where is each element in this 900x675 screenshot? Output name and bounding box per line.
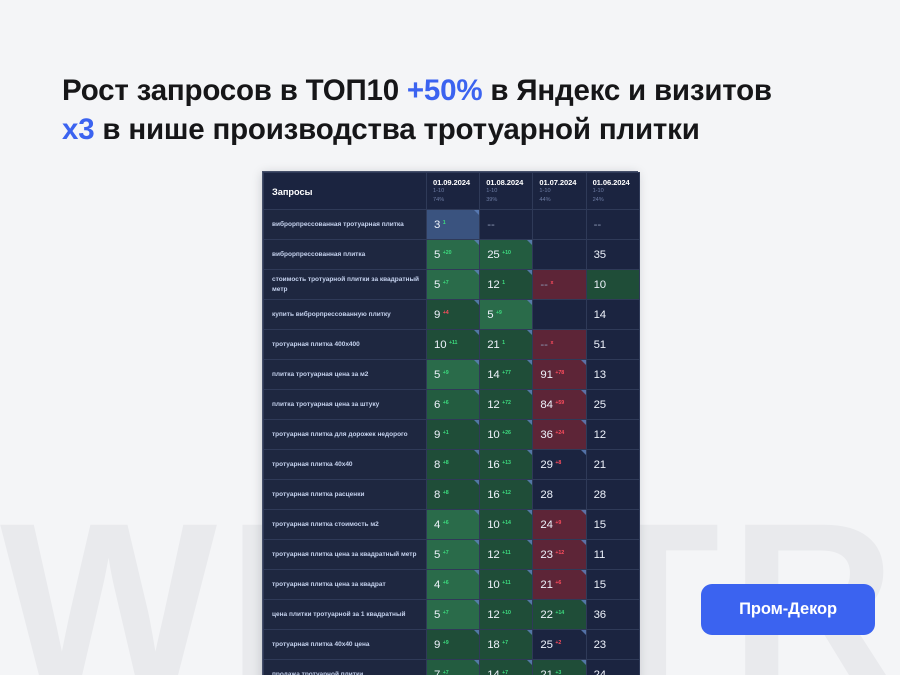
table-row: тротуарная плитка стоимость м24+610+1424…: [264, 510, 640, 540]
position-value: 10: [487, 519, 499, 531]
position-value: 16: [487, 459, 499, 471]
query-cell: тротуарная плитка 40x40 цена: [264, 630, 427, 660]
position-cell: 18+7: [480, 630, 533, 660]
position-cell: --x: [533, 330, 586, 360]
position-delta: +2: [555, 640, 561, 646]
position-cell: 25+2: [533, 630, 586, 660]
position-delta: +7: [502, 640, 508, 646]
position-value: --: [594, 219, 602, 231]
table-row: цена плитки тротуарной за 1 квадратный5+…: [264, 600, 640, 630]
position-value: 4: [434, 579, 440, 591]
position-delta: +7: [443, 610, 449, 616]
position-value: 12: [487, 399, 499, 411]
position-cell: 7+7: [427, 660, 480, 675]
position-value: 91: [540, 369, 552, 381]
position-cell: 4+6: [427, 570, 480, 600]
table-row: тротуарная плитка 400x40010+11211--x51: [264, 330, 640, 360]
position-cell: 36+24: [533, 420, 586, 450]
query-cell: продажа тротуарной плитки: [264, 660, 427, 675]
position-delta: +7: [443, 670, 449, 675]
position-cell: 51: [586, 330, 639, 360]
position-value: 36: [594, 609, 606, 621]
position-cell: 6+6: [427, 390, 480, 420]
position-cell: 25: [586, 390, 639, 420]
query-cell: виброрпрессованная тротуарная плитка: [264, 210, 427, 240]
table-header-row: Запросы 01.09.20241-1074%01.08.20241-103…: [264, 173, 640, 210]
position-cell: 13: [586, 360, 639, 390]
title-accent-percent: +50%: [407, 74, 482, 107]
position-value: 21: [594, 459, 606, 471]
position-cell: 25+10: [480, 240, 533, 270]
position-value: 13: [594, 369, 606, 381]
position-delta: +6: [443, 580, 449, 586]
header-percent-label: 74%: [433, 196, 475, 204]
position-value: 28: [540, 489, 552, 501]
position-value: 7: [434, 669, 440, 675]
title-accent-multiplier: x3: [62, 113, 94, 146]
position-value: 12: [487, 609, 499, 621]
position-value: 10: [487, 579, 499, 591]
rankings-table: Запросы 01.09.20241-1074%01.08.20241-103…: [263, 172, 640, 675]
position-cell: 5+9: [427, 360, 480, 390]
position-value: 21: [487, 339, 499, 351]
position-cell: 29+8: [533, 450, 586, 480]
position-cell: 23: [586, 630, 639, 660]
position-cell: 16+13: [480, 450, 533, 480]
table-body: виброрпрессованная тротуарная плитка31--…: [264, 210, 640, 675]
position-value: 25: [540, 639, 552, 651]
position-cell: 21: [586, 450, 639, 480]
position-value: --: [540, 279, 548, 291]
position-value: 9: [434, 639, 440, 651]
header-date-label: 01.09.2024: [433, 178, 475, 187]
position-delta: 1: [443, 220, 446, 226]
position-delta: +10: [502, 610, 511, 616]
position-cell: 24: [586, 660, 639, 675]
position-cell: 36: [586, 600, 639, 630]
position-value: 25: [594, 399, 606, 411]
table-row: тротуарная плитка расценки8+816+122828: [264, 480, 640, 510]
position-cell: 14: [586, 300, 639, 330]
position-delta: +11: [502, 580, 510, 586]
query-cell: тротуарная плитка 400x400: [264, 330, 427, 360]
position-cell: 8+8: [427, 480, 480, 510]
title-text-3: в нише производства тротуарной плитки: [94, 113, 699, 146]
query-cell: тротуарная плитка стоимость м2: [264, 510, 427, 540]
table-row: тротуарная плитка для дорожек недорого9+…: [264, 420, 640, 450]
position-value: --: [540, 339, 548, 351]
table-row: тротуарная плитка 40x40 цена9+918+725+22…: [264, 630, 640, 660]
position-cell: [533, 300, 586, 330]
position-value: 5: [487, 309, 493, 321]
header-percent-label: 44%: [539, 196, 581, 204]
position-value: 9: [434, 309, 440, 321]
position-delta: +10: [502, 250, 511, 256]
position-value: 5: [434, 249, 440, 261]
header-date-label: 01.06.2024: [593, 178, 635, 187]
table-row: купить виброрпрессованную плитку9+45+914: [264, 300, 640, 330]
position-cell: 22+14: [533, 600, 586, 630]
position-delta: +1: [443, 430, 449, 436]
position-cell: --: [480, 210, 533, 240]
position-delta: +9: [443, 640, 449, 646]
position-value: 10: [434, 339, 446, 351]
position-delta: +7: [502, 670, 508, 675]
table-row: плитка тротуарная цена за м25+914+7791+7…: [264, 360, 640, 390]
position-cell: 4+6: [427, 510, 480, 540]
header-date-cell: 01.09.20241-1074%: [427, 173, 480, 210]
position-cell: 23+12: [533, 540, 586, 570]
position-value: 14: [594, 309, 606, 321]
header-date-label: 01.08.2024: [486, 178, 528, 187]
position-delta: +14: [502, 520, 511, 526]
position-delta: +6: [555, 580, 561, 586]
table-header: Запросы 01.09.20241-1074%01.08.20241-103…: [264, 173, 640, 210]
position-value: 5: [434, 609, 440, 621]
position-delta: +72: [502, 400, 511, 406]
position-cell: 8+8: [427, 450, 480, 480]
position-value: 24: [540, 519, 552, 531]
header-range-label: 1-10: [593, 187, 635, 195]
position-delta: +14: [555, 610, 564, 616]
position-cell: 12: [586, 420, 639, 450]
position-cell: 35: [586, 240, 639, 270]
table-row: продажа тротуарной плитки7+714+721+324: [264, 660, 640, 675]
position-value: 36: [540, 429, 552, 441]
position-value: 15: [594, 519, 606, 531]
position-delta: +11: [449, 340, 457, 346]
position-cell: 5+20: [427, 240, 480, 270]
position-cell: 10+11: [480, 570, 533, 600]
header-queries-label: Запросы: [272, 187, 312, 197]
position-cell: 28: [586, 480, 639, 510]
header-range-label: 1-10: [539, 187, 581, 195]
position-cell: 5+7: [427, 270, 480, 300]
query-cell: тротуарная плитка цена за квадратный мет…: [264, 540, 427, 570]
query-cell: плитка тротуарная цена за штуку: [264, 390, 427, 420]
query-cell: тротуарная плитка для дорожек недорого: [264, 420, 427, 450]
query-cell: тротуарная плитка расценки: [264, 480, 427, 510]
position-delta: +6: [443, 400, 449, 406]
position-value: 4: [434, 519, 440, 531]
position-value: 12: [487, 549, 499, 561]
query-cell: цена плитки тротуарной за 1 квадратный: [264, 600, 427, 630]
position-cell: 12+72: [480, 390, 533, 420]
position-value: 23: [594, 639, 606, 651]
query-cell: купить виброрпрессованную плитку: [264, 300, 427, 330]
position-delta: +12: [502, 490, 511, 496]
position-cell: 10+26: [480, 420, 533, 450]
position-value: 21: [540, 579, 552, 591]
header-range-label: 1-10: [486, 187, 528, 195]
position-cell: [533, 240, 586, 270]
header-date-label: 01.07.2024: [539, 178, 581, 187]
position-delta: +20: [443, 250, 452, 256]
query-cell: тротуарная плитка цена за квадрат: [264, 570, 427, 600]
position-value: 21: [540, 669, 552, 675]
title-text-2: в Яндекс и визитов: [482, 74, 771, 107]
position-delta: +13: [502, 460, 511, 466]
position-delta: +8: [555, 460, 561, 466]
position-cell: 9+9: [427, 630, 480, 660]
position-delta: +8: [443, 460, 449, 466]
table-row: плитка тротуарная цена за штуку6+612+728…: [264, 390, 640, 420]
table-row: тротуарная плитка цена за квадрат4+610+1…: [264, 570, 640, 600]
position-value: 5: [434, 549, 440, 561]
position-value: 8: [434, 489, 440, 501]
position-value: 12: [594, 429, 606, 441]
position-value: 23: [540, 549, 552, 561]
position-delta: 1: [502, 340, 505, 346]
position-cell: 211: [480, 330, 533, 360]
position-cell: 9+1: [427, 420, 480, 450]
position-delta: +9: [555, 520, 561, 526]
table-row: стоимость тротуарной плитки за квадратны…: [264, 270, 640, 300]
position-value: 6: [434, 399, 440, 411]
position-delta: +9: [496, 310, 502, 316]
title-text-1: Рост запросов в ТОП10: [62, 74, 407, 107]
position-delta: +6: [443, 520, 449, 526]
position-delta: +11: [502, 550, 510, 556]
query-cell: плитка тротуарная цена за м2: [264, 360, 427, 390]
position-value: 11: [594, 549, 606, 561]
position-cell: 5+7: [427, 600, 480, 630]
position-cell: 21+6: [533, 570, 586, 600]
position-delta: +3: [555, 670, 561, 675]
position-value: 9: [434, 429, 440, 441]
position-cell: 121: [480, 270, 533, 300]
position-value: --: [487, 219, 495, 231]
position-cell: 28: [533, 480, 586, 510]
position-delta: x: [550, 340, 553, 346]
position-value: 5: [434, 279, 440, 291]
position-value: 5: [434, 369, 440, 381]
position-cell: 10+14: [480, 510, 533, 540]
table-row: виброрпрессованная тротуарная плитка31--…: [264, 210, 640, 240]
position-cell: 31: [427, 210, 480, 240]
position-value: 14: [487, 669, 499, 675]
position-delta: +24: [555, 430, 564, 436]
position-value: 10: [594, 279, 606, 291]
query-cell: стоимость тротуарной плитки за квадратны…: [264, 270, 427, 300]
position-cell: 10+11: [427, 330, 480, 360]
table-row: тротуарная плитка 40x408+816+1329+821: [264, 450, 640, 480]
position-delta: +78: [555, 370, 564, 376]
position-cell: --x: [533, 270, 586, 300]
rankings-table-card: Запросы 01.09.20241-1074%01.08.20241-103…: [262, 171, 638, 675]
table-row: тротуарная плитка цена за квадратный мет…: [264, 540, 640, 570]
header-date-cell: 01.06.20241-1024%: [586, 173, 639, 210]
position-cell: 10: [586, 270, 639, 300]
position-cell: 15: [586, 510, 639, 540]
header-date-cell: 01.08.20241-1039%: [480, 173, 533, 210]
position-value: 8: [434, 459, 440, 471]
header-queries-cell: Запросы: [264, 173, 427, 210]
position-value: 35: [594, 249, 606, 261]
position-value: 18: [487, 639, 499, 651]
header-date-cell: 01.07.20241-1044%: [533, 173, 586, 210]
position-delta: +12: [555, 550, 564, 556]
position-delta: +26: [502, 430, 511, 436]
position-cell: 14+7: [480, 660, 533, 675]
position-value: 15: [594, 579, 606, 591]
position-value: 10: [487, 429, 499, 441]
position-cell: 9+4: [427, 300, 480, 330]
position-cell: 84+59: [533, 390, 586, 420]
header-percent-label: 39%: [486, 196, 528, 204]
position-cell: 24+9: [533, 510, 586, 540]
position-value: 16: [487, 489, 499, 501]
position-cell: 16+12: [480, 480, 533, 510]
position-cell: 5+9: [480, 300, 533, 330]
page-title: Рост запросов в ТОП10 +50% в Яндекс и ви…: [62, 72, 852, 150]
position-value: 84: [540, 399, 552, 411]
position-value: 25: [487, 249, 499, 261]
position-value: 3: [434, 219, 440, 231]
position-cell: 5+7: [427, 540, 480, 570]
position-value: 51: [594, 339, 606, 351]
position-cell: 15: [586, 570, 639, 600]
position-delta: +7: [443, 280, 449, 286]
position-value: 29: [540, 459, 552, 471]
position-cell: 12+11: [480, 540, 533, 570]
position-delta: x: [550, 280, 553, 286]
position-delta: 1: [502, 280, 505, 286]
prom-dekor-button[interactable]: Пром-Декор: [701, 584, 875, 635]
position-value: 24: [594, 669, 606, 675]
header-range-label: 1-10: [433, 187, 475, 195]
position-value: 12: [487, 279, 499, 291]
table-row: виброрпрессованная плитка5+2025+1035: [264, 240, 640, 270]
position-cell: 11: [586, 540, 639, 570]
position-delta: +9: [443, 370, 449, 376]
query-cell: тротуарная плитка 40x40: [264, 450, 427, 480]
position-value: 14: [487, 369, 499, 381]
position-cell: [533, 210, 586, 240]
position-delta: +77: [502, 370, 511, 376]
position-delta: +8: [443, 490, 449, 496]
position-value: 28: [594, 489, 606, 501]
position-cell: 21+3: [533, 660, 586, 675]
position-delta: +7: [443, 550, 449, 556]
position-cell: 14+77: [480, 360, 533, 390]
position-cell: 12+10: [480, 600, 533, 630]
position-cell: 91+78: [533, 360, 586, 390]
position-delta: +4: [443, 310, 449, 316]
position-cell: --: [586, 210, 639, 240]
position-delta: +59: [555, 400, 564, 406]
query-cell: виброрпрессованная плитка: [264, 240, 427, 270]
position-value: 22: [540, 609, 552, 621]
header-percent-label: 24%: [593, 196, 635, 204]
